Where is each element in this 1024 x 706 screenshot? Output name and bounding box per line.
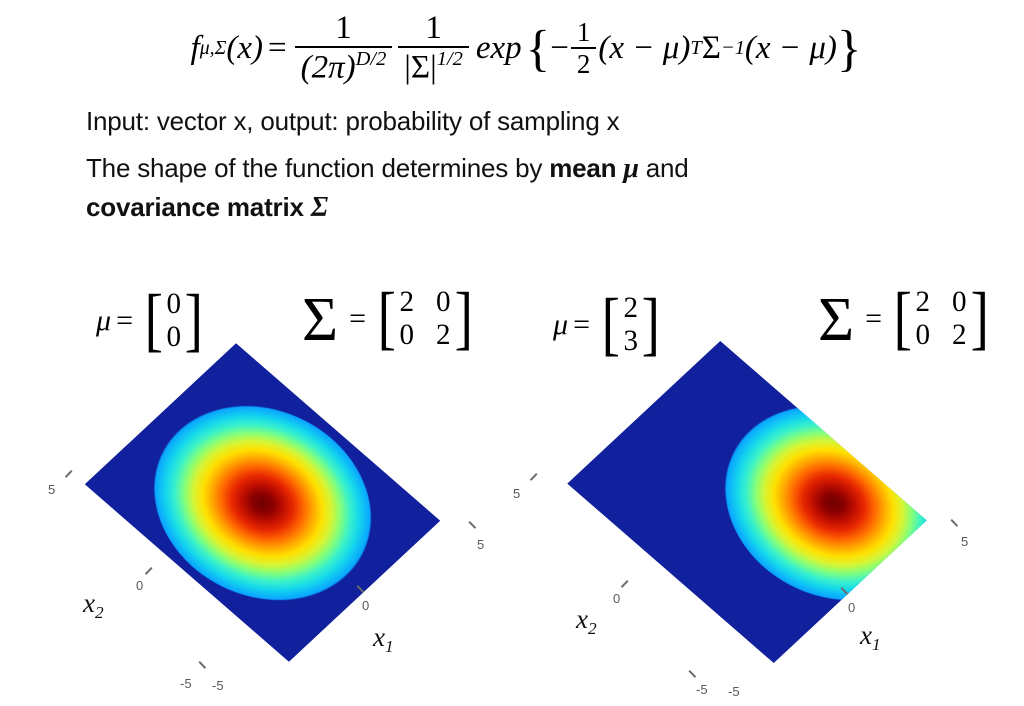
text-line-input: Input: vector x, output: probability of … [86, 106, 619, 137]
formula-quad-left: (x − μ) [598, 30, 690, 67]
right-mu-value-0: 2 [623, 292, 638, 325]
formula-lhs-f: f [191, 30, 200, 67]
left-mu-values: 0 0 [165, 288, 182, 353]
left-tick-label-origin-x1: -5 [212, 678, 224, 693]
right-tick-label-x1-5: 5 [961, 534, 968, 549]
left-axis-label-x1: x1 [373, 622, 394, 657]
left-axis-label-x2: x2 [83, 588, 104, 623]
formula-exp: exp [476, 30, 522, 67]
left-axis-x2-sub: 2 [95, 603, 104, 622]
fraction-1-den-exponent: D/2 [356, 48, 387, 70]
left-tick-label-x2-5: 5 [48, 482, 55, 497]
left-tick-x2-5 [65, 470, 72, 478]
left-mu-value-0: 0 [166, 288, 181, 321]
fraction-2-den-exponent: 1/2 [437, 48, 463, 70]
right-mu-matrix: [ 2 3 ] [599, 292, 663, 357]
right-tick-label-x2-0: 0 [613, 591, 620, 606]
left-axis-x1-sub: 1 [385, 637, 394, 656]
left-sigma-value-01: 0 [436, 286, 451, 319]
right-mu-bracket-open: [ [602, 303, 620, 347]
left-tick-origin [199, 661, 206, 669]
fraction-2-den-base: |Σ| [404, 50, 436, 86]
right-axis-label-x1: x1 [860, 620, 881, 655]
formula-equals: = [268, 30, 287, 67]
left-mu-value-1: 0 [166, 321, 181, 354]
left-sigma-value-00: 2 [400, 286, 415, 319]
right-tick-origin [689, 670, 696, 678]
left-sigma-equals: = [349, 302, 366, 336]
right-mu-bracket-close: ] [642, 303, 660, 347]
left-sigma-value-11: 2 [436, 319, 451, 352]
formula-quad-right: (x − μ) [745, 30, 837, 67]
left-tick-label-x1-5: 5 [477, 537, 484, 552]
left-sigma-values: 2 0 0 2 [399, 286, 452, 351]
right-axis-x1-base: x [860, 620, 872, 650]
left-axis-x1-base: x [373, 622, 385, 652]
left-mu-annotation: μ = [ 0 0 ] [96, 288, 206, 353]
cov-text-sigma: Σ [311, 192, 328, 223]
left-surface-panel [85, 343, 441, 662]
left-sigma-symbol: Σ [302, 299, 338, 342]
right-tick-label-x1-0: 0 [848, 600, 855, 615]
right-tick-label-x2-5: 5 [513, 486, 520, 501]
left-mu-matrix: [ 0 0 ] [142, 288, 206, 353]
left-mu-equals: = [116, 304, 133, 338]
fraction-1-numerator: 1 [329, 11, 358, 47]
right-mu-annotation: μ = [ 2 3 ] [553, 292, 663, 357]
half-denominator: 2 [571, 47, 597, 78]
formula-sigma-exponent: −1 [721, 37, 745, 60]
fraction-2-numerator: 1 [419, 11, 448, 47]
left-sigma-matrix: [ 2 0 0 2 ] [375, 286, 475, 351]
half-numerator: 1 [571, 18, 597, 47]
right-sigma-value-01: 0 [952, 286, 967, 319]
formula-minus: − [550, 30, 569, 67]
left-tick-label-x2-0: 0 [136, 578, 143, 593]
left-mu-symbol: μ [96, 304, 111, 338]
cov-text-label: covariance matrix [86, 192, 311, 222]
left-tick-x2-0 [145, 567, 152, 575]
right-sigma-value-11: 2 [952, 319, 967, 352]
right-tick-x2-5 [530, 473, 537, 481]
text-line-covariance: covariance matrix Σ [86, 192, 328, 224]
formula-lhs-subscript: μ,Σ [200, 37, 227, 60]
left-sigma-bracket-open: [ [378, 297, 396, 341]
right-mu-equals: = [573, 308, 590, 342]
left-tick-label-x1-0: 0 [362, 598, 369, 613]
left-sigma-value-10: 0 [400, 319, 415, 352]
right-sigma-value-00: 2 [916, 286, 931, 319]
left-tick-label-origin-x2: -5 [180, 676, 192, 691]
formula-sigma: Σ [702, 30, 721, 67]
right-axis-x2-sub: 2 [588, 619, 597, 638]
right-tick-label-origin-x2: -5 [696, 682, 708, 697]
shape-text-mean: mean [549, 153, 623, 183]
right-sigma-bracket-close: ] [970, 297, 988, 341]
formula-lhs-arg: (x) [226, 30, 263, 67]
shape-text-mu: μ [623, 153, 638, 184]
formula-brace-close: } [837, 19, 862, 78]
right-sigma-value-10: 0 [916, 319, 931, 352]
right-sigma-values: 2 0 0 2 [915, 286, 968, 351]
formula-brace-open: { [526, 19, 551, 78]
right-mu-symbol: μ [553, 308, 568, 342]
right-tick-label-origin-x1: -5 [728, 684, 740, 699]
right-sigma-annotation: Σ = [ 2 0 0 2 ] [818, 286, 991, 351]
left-sigma-bracket-close: ] [454, 297, 472, 341]
right-mu-value-1: 3 [623, 325, 638, 358]
right-axis-label-x2: x2 [576, 604, 597, 639]
left-axis-x2-base: x [83, 588, 95, 618]
formula-transpose: T [690, 37, 701, 60]
right-tick-x2-0 [621, 580, 628, 588]
fraction-2-denominator: |Σ|1/2 [398, 46, 469, 85]
left-tick-x1-5 [469, 521, 476, 529]
shape-text-prefix: The shape of the function determines by [86, 153, 549, 183]
right-sigma-matrix: [ 2 0 0 2 ] [891, 286, 991, 351]
right-axis-x1-sub: 1 [872, 635, 881, 654]
right-sigma-symbol: Σ [818, 299, 854, 342]
fraction-1-denominator: (2π)D/2 [295, 46, 393, 85]
left-mu-bracket-open: [ [145, 299, 163, 343]
right-sigma-bracket-open: [ [894, 297, 912, 341]
right-axis-x2-base: x [576, 604, 588, 634]
fraction-1-den-base: (2π) [301, 50, 356, 86]
formula-fraction-1: 1 (2π)D/2 [295, 11, 393, 86]
right-sigma-equals: = [865, 302, 882, 336]
left-mu-bracket-close: ] [185, 299, 203, 343]
shape-text-suffix: and [639, 153, 689, 183]
right-surface-panel [567, 341, 927, 663]
pdf-formula: fμ,Σ(x) = 1 (2π)D/2 1 |Σ|1/2 exp { − 1 2… [86, 4, 966, 92]
left-sigma-annotation: Σ = [ 2 0 0 2 ] [302, 286, 475, 351]
text-line-shape: The shape of the function determines by … [86, 153, 689, 185]
formula-half: 1 2 [571, 18, 597, 79]
right-mu-values: 2 3 [622, 292, 639, 357]
formula-fraction-2: 1 |Σ|1/2 [398, 11, 469, 86]
right-tick-x1-5 [951, 519, 958, 527]
